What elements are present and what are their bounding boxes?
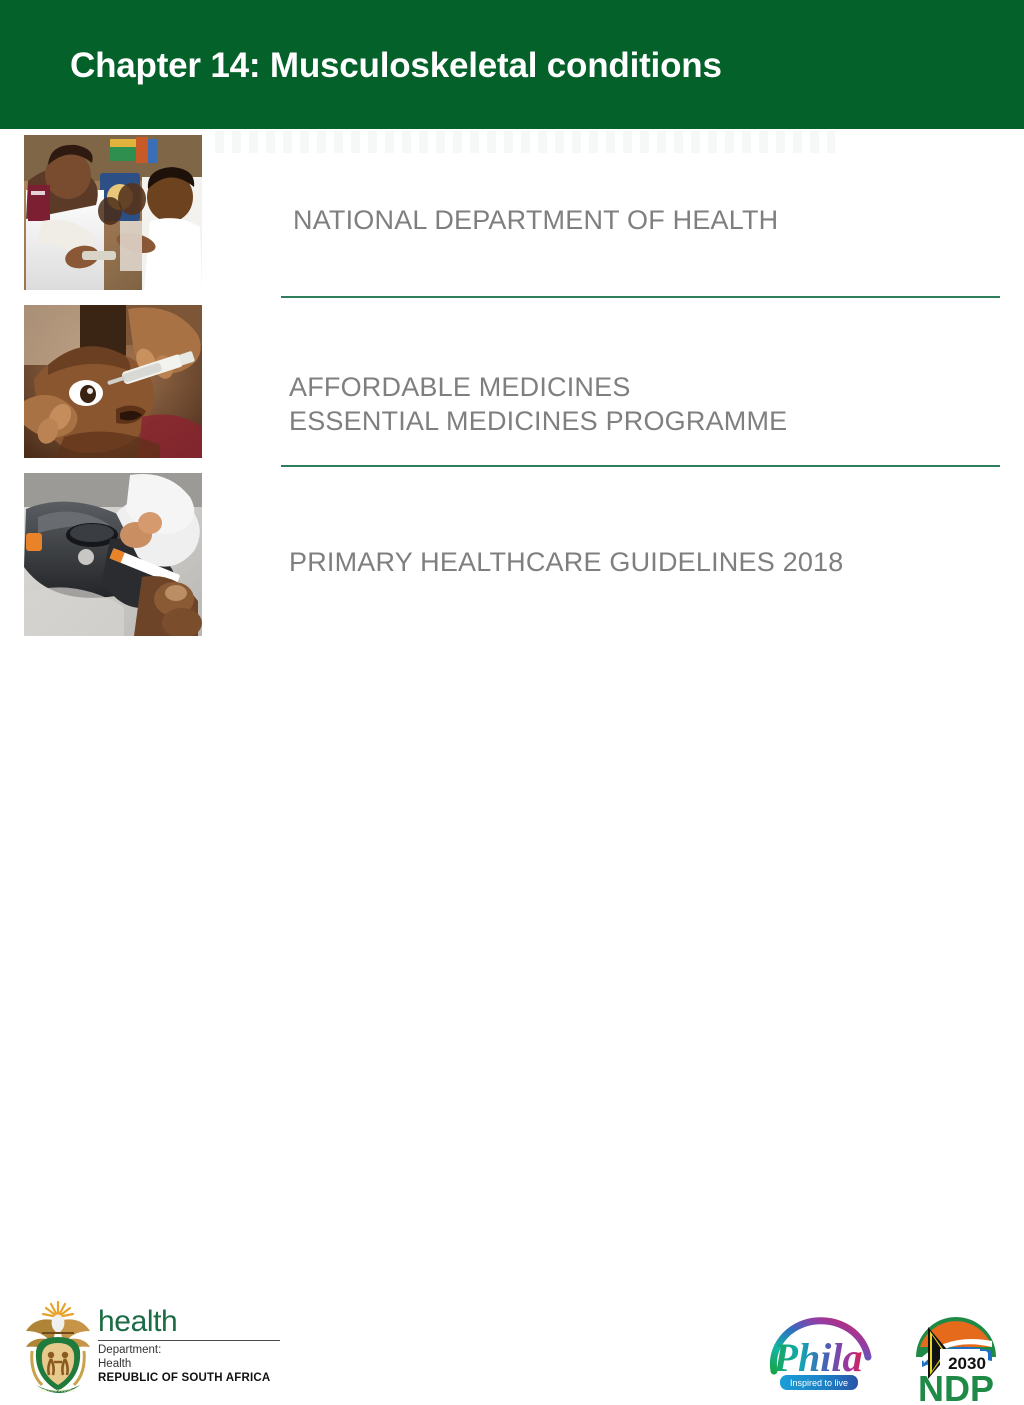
text-line-affordable-medicines: AFFORDABLE MEDICINES <box>289 370 787 404</box>
svg-text:!KE E:/XARRA//KE: !KE E:/XARRA//KE <box>40 1388 76 1393</box>
infant-oral-vaccine-photo <box>24 305 202 458</box>
body-text-block-2: AFFORDABLE MEDICINES ESSENTIAL MEDICINES… <box>289 370 787 438</box>
page-title: Chapter 14: Musculoskeletal conditions <box>70 45 722 87</box>
south-africa-coat-of-arms-icon: !KE E:/XARRA//KE <box>22 1297 94 1401</box>
section-divider-1 <box>281 296 1000 298</box>
health-wordmark-text: health <box>98 1305 288 1338</box>
health-department-wordmark: health Department: Health REPUBLIC OF SO… <box>98 1305 288 1385</box>
slide-footer: !KE E:/XARRA//KE health Department: Heal… <box>0 645 1024 768</box>
phila-wordmark-text: Phila <box>773 1335 863 1380</box>
text-line-national-department-of-health: NATIONAL DEPARTMENT OF HEALTH <box>293 203 778 237</box>
body-text-block-3: PRIMARY HEALTHCARE GUIDELINES 2018 <box>289 545 844 579</box>
ndp-2030-logo: 2030 NDP <box>900 1313 1012 1405</box>
phila-logo: Phila Inspired to live <box>764 1313 876 1401</box>
health-department-label: Department: <box>98 1344 288 1358</box>
watermark-strip <box>215 131 835 153</box>
phila-tagline-text: Inspired to live <box>790 1378 848 1388</box>
text-line-essential-medicines-programme: ESSENTIAL MEDICINES PROGRAMME <box>289 404 787 438</box>
ndp-wordmark-text: NDP <box>918 1368 994 1405</box>
nurse-vaccinating-child-photo <box>24 135 202 290</box>
glucose-meter-test-photo <box>24 473 202 636</box>
text-line-primary-healthcare-guidelines: PRIMARY HEALTHCARE GUIDELINES 2018 <box>289 545 844 579</box>
body-text-block-1: NATIONAL DEPARTMENT OF HEALTH <box>293 203 778 237</box>
health-department-name: Health <box>98 1358 288 1372</box>
slide-header-banner: Chapter 14: Musculoskeletal conditions <box>0 0 1024 129</box>
health-wordmark-rule <box>98 1340 280 1341</box>
section-divider-2 <box>281 465 1000 467</box>
health-country-label: REPUBLIC OF SOUTH AFRICA <box>98 1371 288 1385</box>
